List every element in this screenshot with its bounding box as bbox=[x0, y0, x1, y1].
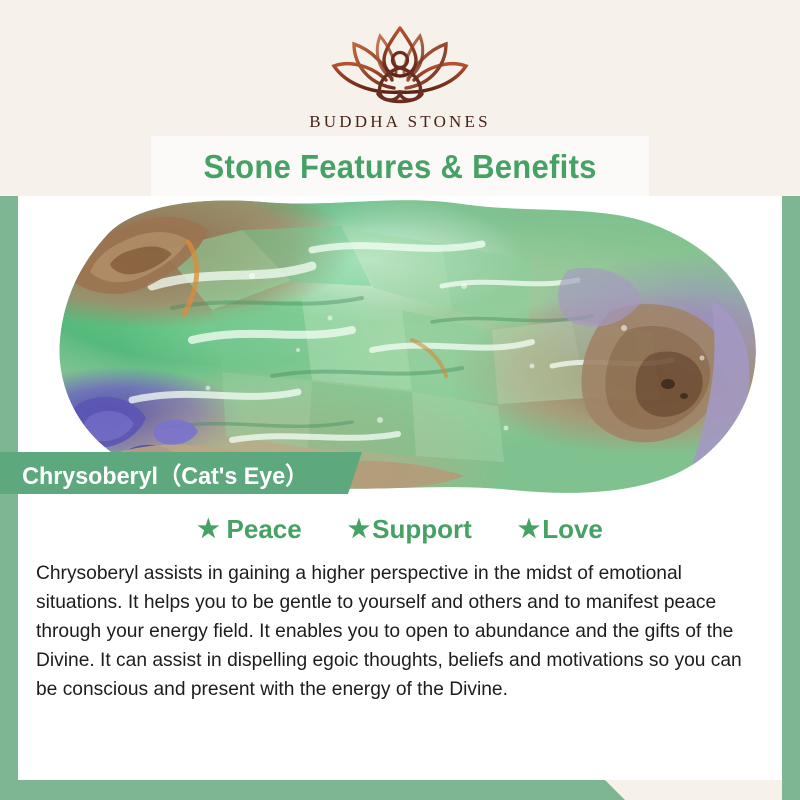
benefits-row: ★ Peace ★ Support ★ Love bbox=[18, 500, 782, 545]
benefit-love: ★ Love bbox=[518, 514, 603, 545]
header: BUDDHA STONES Stone Features & Benefits bbox=[0, 0, 800, 196]
benefit-label: Peace bbox=[227, 514, 302, 545]
benefit-support: ★ Support bbox=[348, 514, 472, 545]
benefit-label: Love bbox=[542, 514, 603, 545]
star-icon: ★ bbox=[197, 517, 219, 542]
benefit-peace: ★ Peace bbox=[197, 514, 302, 545]
page-title: Stone Features & Benefits bbox=[203, 148, 596, 186]
lotus-meditation-icon bbox=[316, 22, 484, 110]
brand-logo: BUDDHA STONES bbox=[0, 22, 800, 132]
title-card: Stone Features & Benefits bbox=[152, 137, 648, 196]
content-panel: ★ Peace ★ Support ★ Love Chrysoberyl ass… bbox=[18, 500, 782, 780]
stone-description: Chrysoberyl assists in gaining a higher … bbox=[36, 559, 753, 704]
benefit-label: Support bbox=[372, 514, 472, 545]
star-icon: ★ bbox=[518, 517, 540, 542]
brand-name: BUDDHA STONES bbox=[0, 112, 800, 132]
star-icon: ★ bbox=[348, 517, 370, 542]
frame-bottom-accent bbox=[0, 780, 625, 800]
frame-left-accent bbox=[0, 196, 18, 800]
stone-name: Chrysoberyl（Cat's Eye） bbox=[5, 456, 309, 491]
stone-name-banner: Chrysoberyl（Cat's Eye） bbox=[0, 452, 362, 494]
stone-info-poster: BUDDHA STONES Stone Features & Benefits bbox=[0, 0, 800, 800]
